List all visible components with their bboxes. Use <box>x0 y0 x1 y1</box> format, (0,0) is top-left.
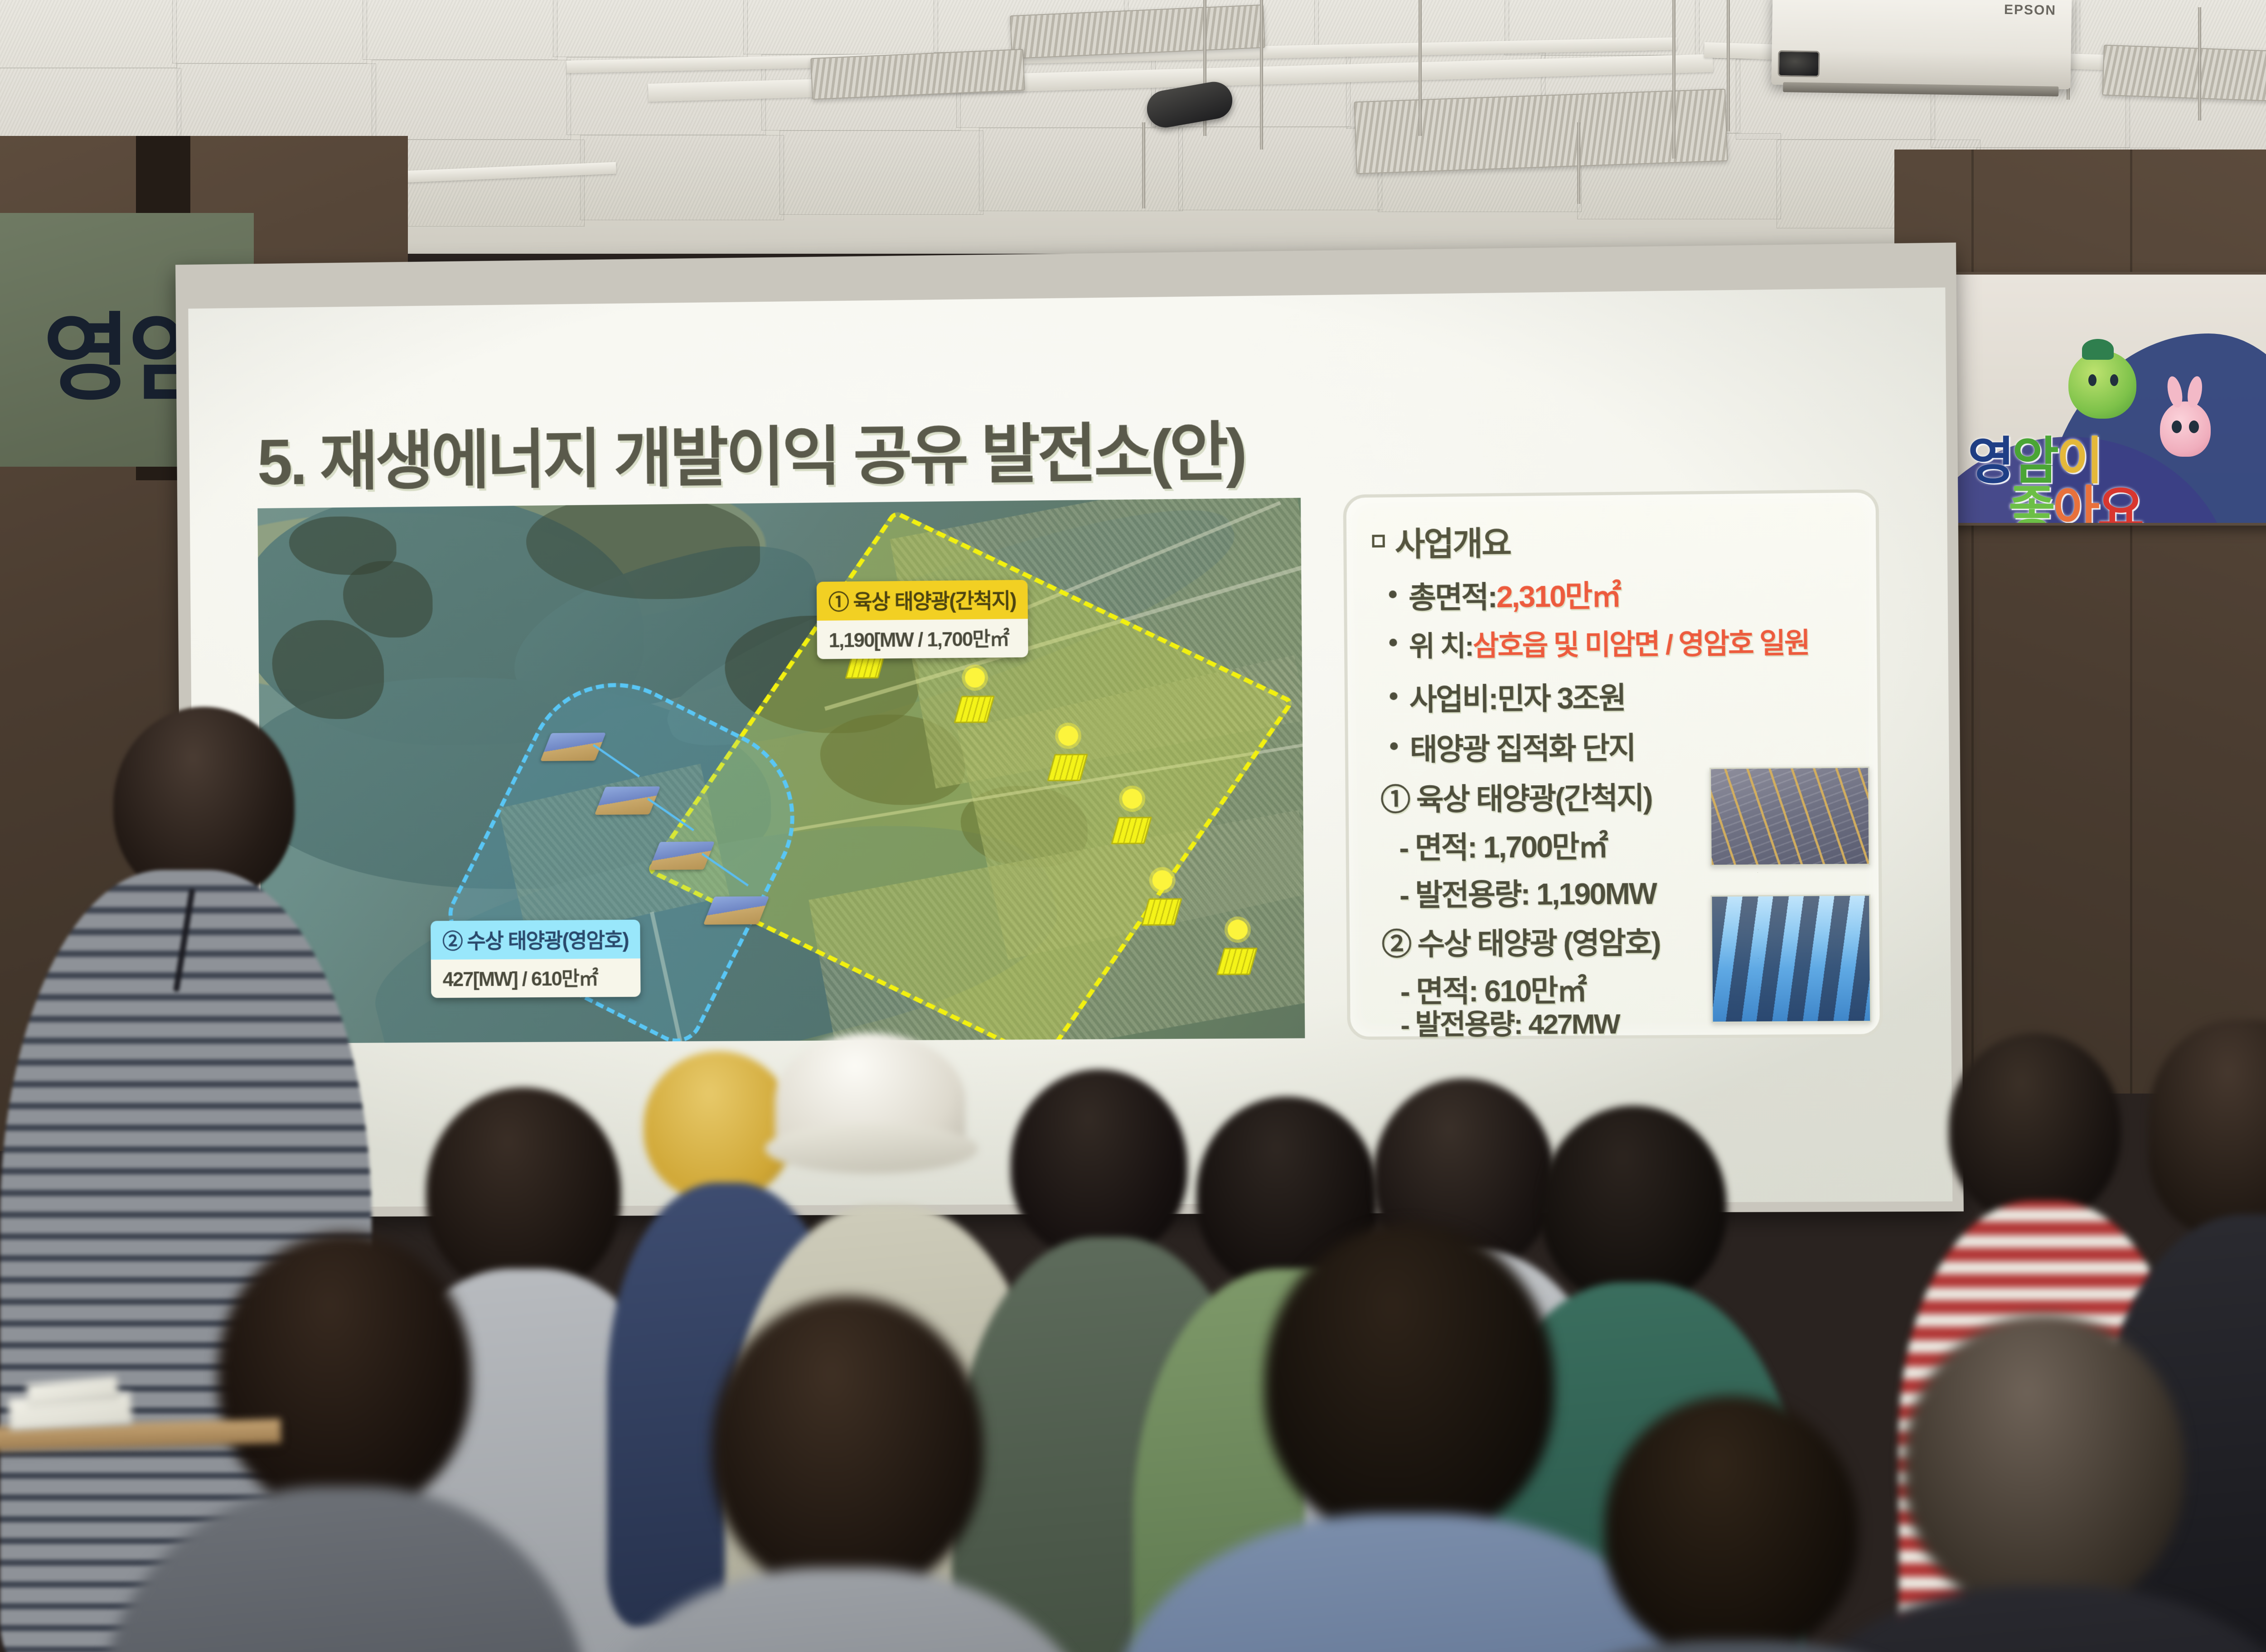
hvac-vent <box>2102 45 2266 104</box>
section-1-title: ① 육상 태양광(간척지) <box>1380 773 1652 819</box>
bullet-total-area-value: 2,310만㎡ <box>1496 579 1620 614</box>
banner-char-2: 암 <box>2012 433 2057 489</box>
hvac-vent <box>1354 89 1728 174</box>
bullet-budget: 사업비:민자 3조원 <box>1390 674 1625 720</box>
land-solar-callout-body: 1,190[MW / 1,700만㎡ <box>817 619 1028 659</box>
bullet-location: 위 치:삼호읍 및 미암면 / 영암호 일원 <box>1389 620 1809 665</box>
floating-solar-photo <box>1710 894 1871 1023</box>
floating-solar-callout-header: ② 수상 태양광(영암호) <box>431 920 640 960</box>
banner-char-3: 이 <box>2057 433 2101 489</box>
banner-char-5: 아 <box>2053 482 2097 526</box>
square-bullet-icon <box>1372 535 1385 547</box>
bullet-solar-cluster: 태양광 집적화 단지 <box>1390 724 1635 769</box>
bullet-dot-icon <box>1389 639 1397 647</box>
bullet-dot-icon <box>1389 590 1397 598</box>
section-1-row-2: - 발전용량: 1,190MW <box>1399 869 1656 914</box>
bullet-dot-icon <box>1390 742 1398 750</box>
projection-screen: 5. 재생에너지 개발이익 공유 발전소(안) <box>175 242 1964 1217</box>
bullet-location-label: 위 치: <box>1409 631 1473 662</box>
land-solar-callout: ① 육상 태양광(간척지) 1,190[MW / 1,700만㎡ <box>817 580 1028 659</box>
section-1-row-1: - 면적: 1,700만㎡ <box>1399 822 1607 868</box>
conference-room-photo: EPSON 영암 영암이 좋아요 <box>0 0 2266 1652</box>
slide-title: 5. 재생에너지 개발이익 공유 발전소(안) <box>257 400 1245 503</box>
banner-text: 영암이 좋아요 <box>1968 437 2142 526</box>
projector-lens-icon <box>1778 50 1820 77</box>
floating-solar-callout-body: 427[MW] / 610만㎡ <box>431 958 641 998</box>
bullet-dot-icon <box>1390 692 1397 700</box>
satellite-map: ① 육상 태양광(간척지) 1,190[MW / 1,700만㎡ ② 수상 태양… <box>257 498 1305 1043</box>
bullet-solar-cluster-label: 태양광 집적화 단지 <box>1409 731 1635 766</box>
projector-brand-label: EPSON <box>2004 2 2057 19</box>
presentation-slide: 5. 재생에너지 개발이익 공유 발전소(안) <box>188 287 1952 1207</box>
section-2-row-2: - 발전용량: 427MW <box>1400 1001 1619 1043</box>
bullet-budget-value: 민자 3조원 <box>1497 681 1625 716</box>
project-summary-card: 사업개요 총면적:2,310만㎡ 위 치:삼호읍 및 미암면 / 영암호 일원 … <box>1343 489 1883 1040</box>
card-heading-row: 사업개요 <box>1372 516 1511 565</box>
turtle-mascot-icon <box>2068 351 2136 419</box>
banner-char-6: 요 <box>2097 482 2142 526</box>
floating-solar-callout: ② 수상 태양광(영암호) 427[MW] / 610만㎡ <box>431 920 640 998</box>
card-heading-text: 사업개요 <box>1395 525 1511 563</box>
wall-banner: 영암이 좋아요 <box>1944 272 2266 526</box>
banner-char-4: 좋 <box>2009 482 2053 526</box>
bunny-mascot-icon <box>2160 401 2211 457</box>
section-2-title: ② 수상 태양광 (영암호) <box>1381 918 1660 964</box>
bullet-budget-label: 사업비: <box>1409 682 1497 716</box>
bullet-total-area: 총면적:2,310만㎡ <box>1389 571 1620 617</box>
bullet-location-value: 삼호읍 및 미암면 / 영암호 일원 <box>1473 628 1809 662</box>
land-solar-photo <box>1709 767 1870 866</box>
land-solar-callout-header: ① 육상 태양광(간척지) <box>817 580 1028 621</box>
bullet-total-area-label: 총면적: <box>1409 580 1496 614</box>
banner-char-1: 영 <box>1968 433 2012 489</box>
projector: EPSON <box>1771 0 2072 89</box>
